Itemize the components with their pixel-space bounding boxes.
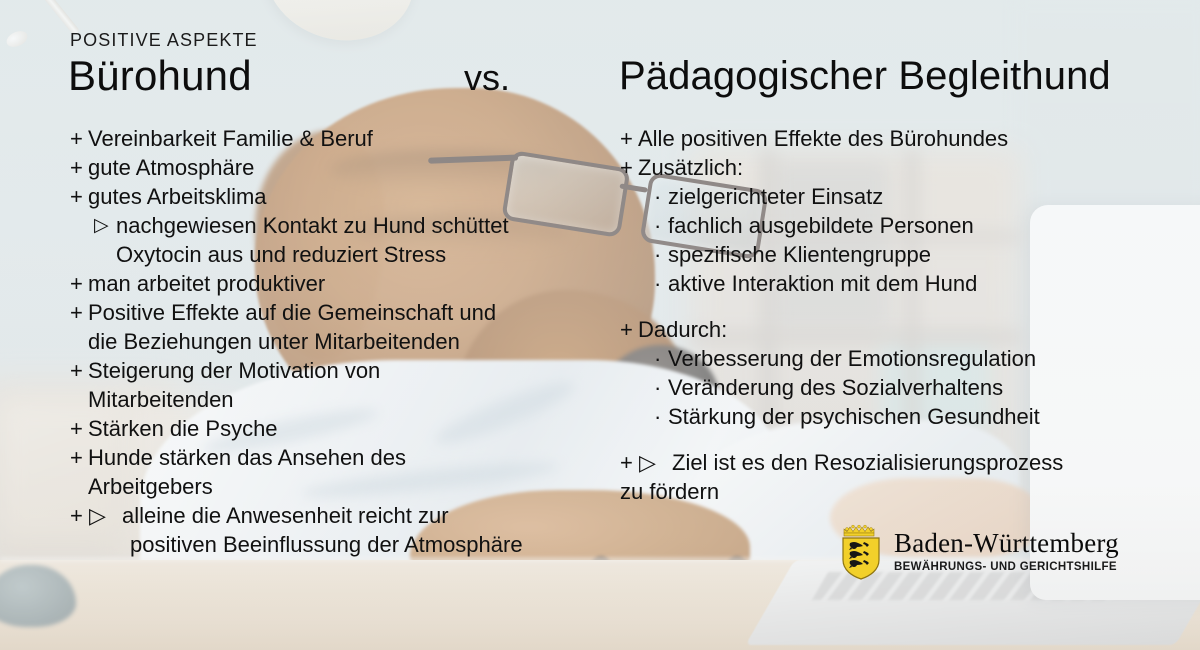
bullet-dot-icon: · [654, 211, 668, 240]
left-bullet-list: + Vereinbarkeit Familie & Beruf + gute A… [70, 124, 610, 559]
list-item: · Stärkung der psychischen Gesundheit [654, 402, 1180, 431]
list-item-text: gutes Arbeitsklima [88, 182, 610, 211]
list-item-continuation: die Beziehungen unter Mitarbeitenden [70, 327, 610, 356]
bullet-plus-triangle-icon: + ▷ [620, 448, 672, 477]
list-item: · aktive Interaktion mit dem Hund [654, 269, 1180, 298]
bullet-plus-icon: + [70, 443, 88, 472]
list-item: + man arbeitet produktiver [70, 269, 610, 298]
list-item: + Hunde stärken das Ansehen des [70, 443, 610, 472]
list-item: · zielgerichteter Einsatz [654, 182, 1180, 211]
list-item-text: Steigerung der Motivation von [88, 356, 610, 385]
list-item: + gutes Arbeitsklima [70, 182, 610, 211]
list-item-text: die Beziehungen unter Mitarbeitenden [88, 327, 610, 356]
title-right: Pädagogischer Begleithund [619, 54, 1111, 99]
list-item: + Positive Effekte auf die Gemeinschaft … [70, 298, 610, 327]
list-item-text: zielgerichteter Einsatz [668, 182, 1180, 211]
list-item-text: Hunde stärken das Ansehen des [88, 443, 610, 472]
list-item-text: Mitarbeitenden [88, 385, 610, 414]
list-item: + Alle positiven Effekte des Bürohundes [620, 124, 1180, 153]
logo-text-block: Baden-Württemberg BEWÄHRUNGS- UND GERICH… [894, 530, 1119, 574]
list-item-text: Stärkung der psychischen Gesundheit [668, 402, 1180, 431]
list-item-text: Dadurch: [638, 315, 1180, 344]
logo-subtitle: BEWÄHRUNGS- UND GERICHTSHILFE [894, 562, 1119, 574]
list-item-text: Arbeitgebers [88, 472, 610, 501]
bullet-plus-icon: + [70, 269, 88, 298]
list-item: · spezifische Klientengruppe [654, 240, 1180, 269]
list-item-continuation: Oxytocin aus und reduziert Stress [94, 240, 610, 269]
list-item: · fachlich ausgebildete Personen [654, 211, 1180, 240]
list-item-text: Vereinbarkeit Familie & Beruf [88, 124, 610, 153]
right-bullet-list: + Alle positiven Effekte des Bürohundes … [620, 124, 1180, 506]
list-item-text: alleine die Anwesenheit reicht zur [122, 501, 610, 530]
bullet-dot-icon: · [654, 182, 668, 211]
list-item-continuation: Arbeitgebers [70, 472, 610, 501]
list-item: + ▷ alleine die Anwesenheit reicht zur [70, 501, 610, 530]
bullet-plus-icon: + [620, 315, 638, 344]
list-item-text: Verbesserung der Emotionsregulation [668, 344, 1180, 373]
list-item: + Vereinbarkeit Familie & Beruf [70, 124, 610, 153]
list-item-continuation: positiven Beeinflussung der Atmosphäre [70, 530, 610, 559]
bullet-plus-icon: + [620, 153, 638, 182]
coat-of-arms-icon [838, 524, 884, 580]
list-item: + Steigerung der Motivation von [70, 356, 610, 385]
list-item-text: Alle positiven Effekte des Bürohundes [638, 124, 1180, 153]
list-item: · Verbesserung der Emotionsregulation [654, 344, 1180, 373]
bullet-dot-icon: · [654, 373, 668, 402]
list-item-text: Positive Effekte auf die Gemeinschaft un… [88, 298, 610, 327]
bullet-plus-icon: + [70, 356, 88, 385]
list-item-text: spezifische Klientengruppe [668, 240, 1180, 269]
bullet-dot-icon: · [654, 240, 668, 269]
bullet-plus-icon: + [70, 153, 88, 182]
list-item: + ▷ Ziel ist es den Resozialisierungspro… [620, 448, 1180, 477]
list-item-text: nachgewiesen Kontakt zu Hund schüttet [116, 211, 610, 240]
list-item: + Stärken die Psyche [70, 414, 610, 443]
list-item-text: zu fördern [620, 477, 1180, 506]
title-left: Bürohund [68, 52, 252, 100]
spacer [620, 431, 1180, 448]
list-item-continuation: Mitarbeitenden [70, 385, 610, 414]
versus-label: vs. [464, 57, 510, 99]
list-item-text: Stärken die Psyche [88, 414, 610, 443]
list-item-text: gute Atmosphäre [88, 153, 610, 182]
bullet-triangle-icon: ▷ [94, 211, 116, 240]
logo-state-name: Baden-Württemberg [894, 530, 1119, 557]
list-item-text: Zusätzlich: [638, 153, 1180, 182]
baden-wuerttemberg-logo: Baden-Württemberg BEWÄHRUNGS- UND GERICH… [838, 524, 1119, 580]
bullet-plus-icon: + [620, 124, 638, 153]
list-item: + Dadurch: [620, 315, 1180, 344]
slide-canvas: POSITIVE ASPEKTE Bürohund vs. Pädagogisc… [0, 0, 1200, 650]
bullet-plus-icon: + [70, 298, 88, 327]
bullet-plus-icon: + [70, 414, 88, 443]
list-item: + gute Atmosphäre [70, 153, 610, 182]
list-item: · Veränderung des Sozialverhaltens [654, 373, 1180, 402]
bullet-dot-icon: · [654, 269, 668, 298]
list-item-continuation: zu fördern [620, 477, 1180, 506]
eyebrow-label: POSITIVE ASPEKTE [70, 30, 258, 51]
list-item-text: Oxytocin aus und reduziert Stress [116, 240, 610, 269]
list-item-text: positiven Beeinflussung der Atmosphäre [130, 530, 610, 559]
list-item-text: fachlich ausgebildete Personen [668, 211, 1180, 240]
list-item: + Zusätzlich: [620, 153, 1180, 182]
list-item-text: man arbeitet produktiver [88, 269, 610, 298]
list-item-text: Veränderung des Sozialverhaltens [668, 373, 1180, 402]
spacer [620, 298, 1180, 315]
bullet-plus-icon: + [70, 124, 88, 153]
bullet-plus-triangle-icon: + ▷ [70, 501, 122, 530]
list-item-text: aktive Interaktion mit dem Hund [668, 269, 1180, 298]
bullet-plus-icon: + [70, 182, 88, 211]
bullet-dot-icon: · [654, 344, 668, 373]
list-item-text: Ziel ist es den Resozialisierungsprozess [672, 448, 1180, 477]
bullet-dot-icon: · [654, 402, 668, 431]
list-item: ▷ nachgewiesen Kontakt zu Hund schüttet [94, 211, 610, 240]
